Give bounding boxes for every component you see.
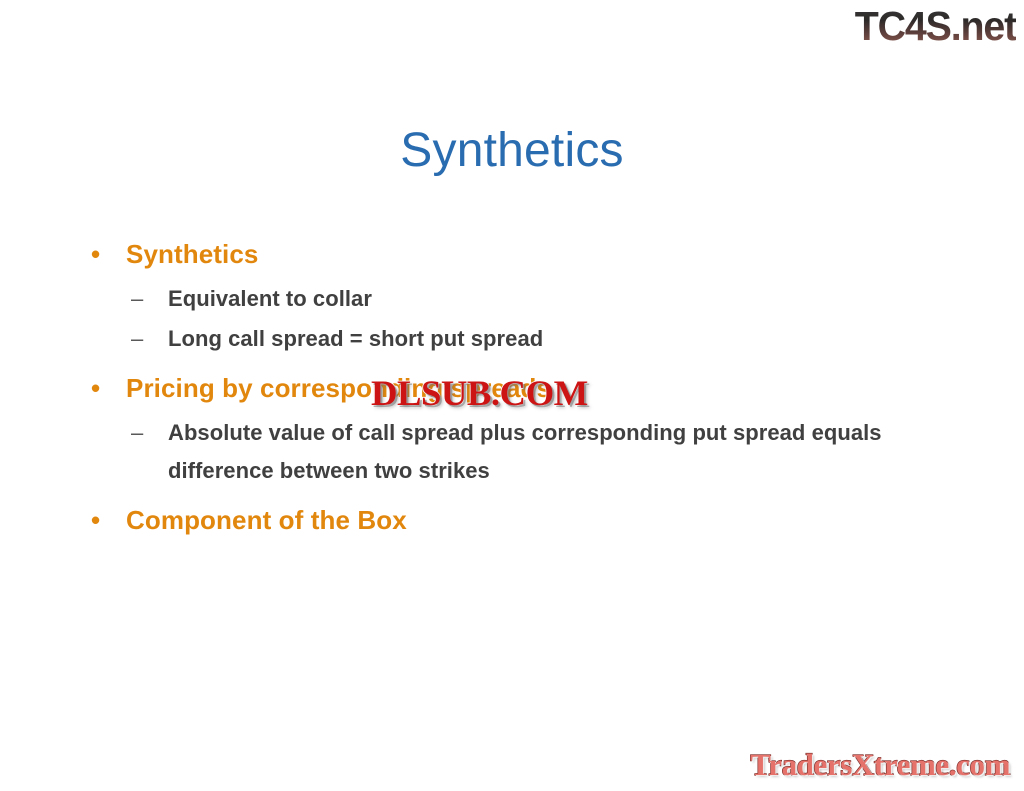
sub-bullet-item-1-2-label: Long call spread = short put spread	[168, 326, 543, 351]
bullet-item-1: • Synthetics	[78, 232, 968, 276]
dash-marker-icon: –	[131, 280, 143, 318]
sub-list-1: – Equivalent to collar – Long call sprea…	[78, 280, 968, 358]
sub-bullet-item-1-2: – Long call spread = short put spread	[78, 320, 968, 358]
dash-marker-icon: –	[131, 320, 143, 358]
bullet-item-1-label: Synthetics	[126, 239, 259, 269]
tradersxtreme-watermark: TradersXtreme.com	[750, 747, 1010, 783]
sub-list-2: – Absolute value of call spread plus cor…	[78, 414, 968, 490]
dlsub-watermark: DLSUB.COM	[371, 373, 588, 413]
presentation-slide: TC4S.net Synthetics • Synthetics – Equiv…	[0, 0, 1024, 791]
sub-bullet-item-1-1-label: Equivalent to collar	[168, 286, 372, 311]
bullet-marker-icon: •	[91, 366, 100, 410]
dash-marker-icon: –	[131, 414, 143, 452]
bullet-item-3-label: Component of the Box	[126, 505, 407, 535]
bullet-marker-icon: •	[91, 498, 100, 542]
sub-bullet-item-2-1: – Absolute value of call spread plus cor…	[78, 414, 968, 490]
tc4s-logo: TC4S.net	[855, 2, 1016, 50]
bullet-item-3: • Component of the Box	[78, 498, 968, 542]
sub-bullet-item-2-1-label: Absolute value of call spread plus corre…	[168, 420, 882, 483]
bullet-marker-icon: •	[91, 232, 100, 276]
sub-bullet-item-1-1: – Equivalent to collar	[78, 280, 968, 318]
page-title: Synthetics	[0, 122, 1024, 180]
